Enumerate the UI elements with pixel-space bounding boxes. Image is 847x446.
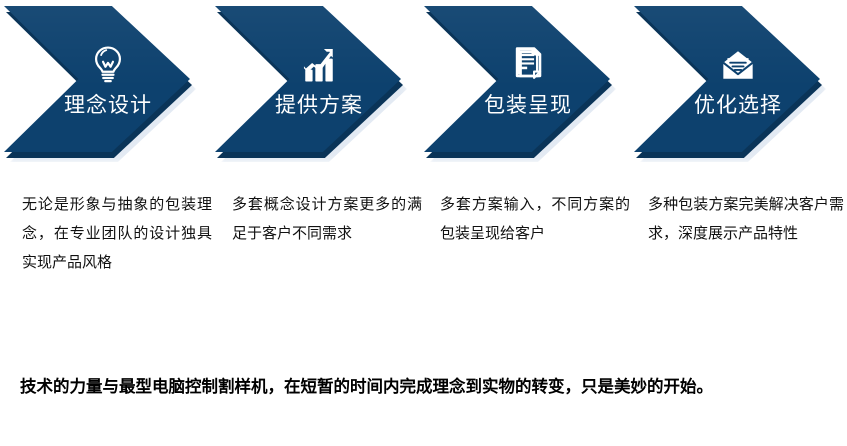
chevron-content: 理念设计 [4, 6, 190, 152]
step-description-1: 无论是形象与抽象的包装理念，在专业团队的设计独具实现产品风格 [22, 190, 212, 277]
chevron-content: 提供方案 [215, 6, 401, 152]
process-chevron-row: 理念设计 提供方案 [0, 0, 847, 175]
process-step-4[interactable]: 优化选择 [630, 4, 842, 164]
growth-chart-icon [297, 43, 341, 87]
step-description-4: 多种包装方案完美解决客户需求，深度展示产品特性 [648, 190, 844, 248]
lightbulb-icon [86, 43, 130, 87]
summary-paragraph: 技术的力量与最型电脑控制割样机，在短暂的时间内完成理念到实物的转变，只是美妙的开… [20, 372, 840, 402]
step-label: 包装呈现 [484, 95, 572, 116]
process-step-3[interactable]: 包装呈现 [420, 4, 632, 164]
step-description-3: 多套方案输入，不同方案的包装呈现给客户 [440, 190, 630, 248]
open-envelope-icon [716, 43, 760, 87]
step-label: 提供方案 [275, 95, 363, 116]
chevron-content: 包装呈现 [424, 6, 610, 152]
step-description-2: 多套概念设计方案更多的满足于客户不同需求 [232, 190, 422, 248]
document-pages-icon [506, 43, 550, 87]
description-row: 无论是形象与抽象的包装理念，在专业团队的设计独具实现产品风格 多套概念设计方案更… [0, 190, 847, 340]
process-step-1[interactable]: 理念设计 [0, 4, 212, 164]
step-label: 理念设计 [64, 95, 152, 116]
chevron-content: 优化选择 [634, 6, 820, 152]
process-step-2[interactable]: 提供方案 [211, 4, 423, 164]
step-label: 优化选择 [694, 95, 782, 116]
